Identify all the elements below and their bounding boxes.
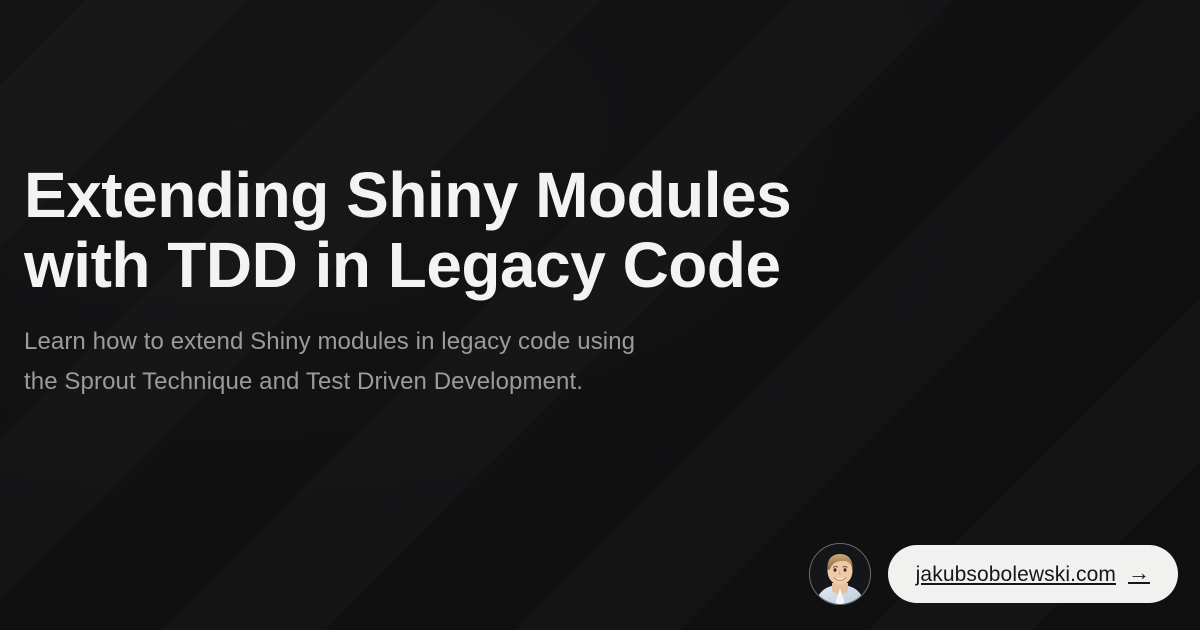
card-content: Extending Shiny Modules with TDD in Lega… [24, 160, 924, 402]
site-link-label: jakubsobolewski.com [916, 564, 1116, 585]
footer-badge: jakubsobolewski.com → [809, 543, 1178, 605]
page-title: Extending Shiny Modules with TDD in Lega… [24, 160, 924, 300]
arrow-right-icon: → [1128, 562, 1150, 584]
site-link-pill[interactable]: jakubsobolewski.com → [888, 545, 1178, 603]
avatar-portrait-photo [810, 544, 870, 604]
og-card: Extending Shiny Modules with TDD in Lega… [0, 0, 1200, 630]
avatar [809, 543, 871, 605]
page-subtitle: Learn how to extend Shiny modules in leg… [24, 300, 924, 402]
